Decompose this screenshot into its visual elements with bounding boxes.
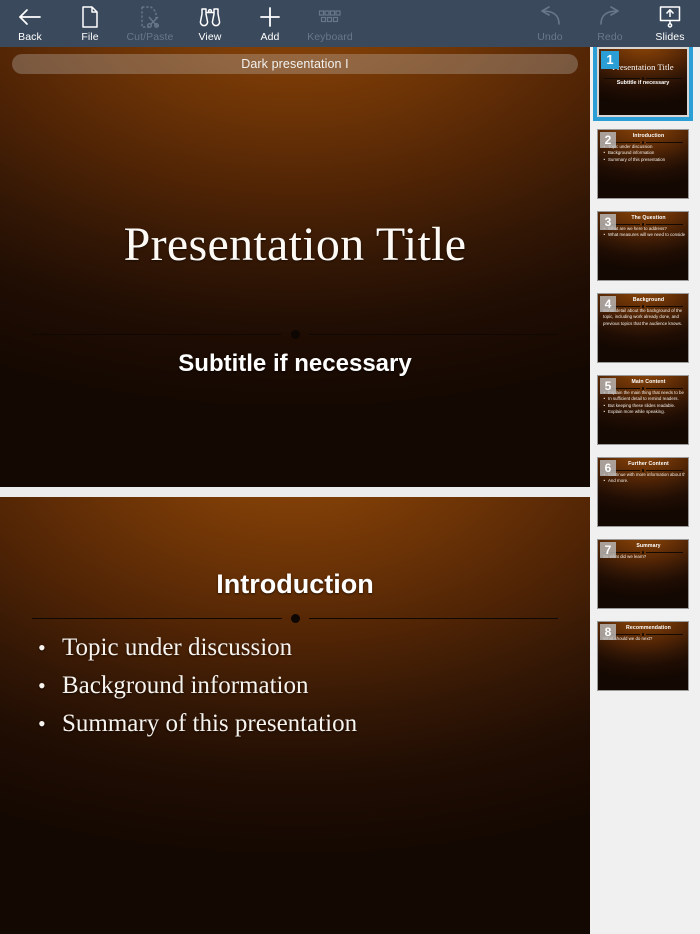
thumbnail-number-badge: 4 (600, 296, 616, 312)
slideshow-icon (657, 4, 683, 30)
divider-line-right (646, 306, 683, 307)
document-icon (80, 4, 100, 30)
undo-button[interactable]: Undo (520, 0, 580, 47)
slide-separator (0, 487, 590, 497)
thumbnail-bullet-item: And more. (603, 478, 685, 484)
document-title-bar[interactable]: Dark presentation I (12, 54, 578, 74)
redo-button-label: Redo (597, 32, 623, 43)
thumbnail-title: Summary (612, 543, 685, 549)
divider-line-right (646, 142, 683, 143)
slide-thumbnail-3[interactable]: The QuestionWhat are we here to address?… (597, 211, 689, 281)
cut-paste-button[interactable]: Cut/Paste (120, 0, 180, 47)
thumbnail-number-badge: 7 (600, 542, 616, 558)
slide-2-bullet-item[interactable]: Topic under discussion (34, 629, 570, 667)
thumbnail-title: Recommendation (612, 625, 685, 631)
slides-button-label: Slides (655, 32, 684, 43)
back-arrow-icon (17, 4, 43, 30)
back-button-label: Back (18, 32, 42, 43)
divider-line-right (646, 78, 682, 79)
thumbnail-title: Background (612, 297, 685, 303)
document-title-text: Dark presentation I (241, 57, 349, 71)
slide-canvas[interactable]: Dark presentation I Presentation Title S… (0, 47, 590, 934)
divider-dot-icon (291, 330, 300, 339)
slide-2-bullet-list[interactable]: Topic under discussionBackground informa… (34, 629, 570, 743)
divider-line-right (309, 334, 559, 335)
slide-thumbnail-4[interactable]: BackgroundSome detail about the backgrou… (597, 293, 689, 363)
top-toolbar: Back File Cut/ (0, 0, 700, 47)
thumbnail-subtitle: Subtitle if necessary (605, 80, 681, 86)
thumbnail-number-badge: 3 (600, 214, 616, 230)
keyboard-icon (318, 4, 342, 30)
add-button[interactable]: Add (240, 0, 300, 47)
thumbnail-number-badge: 2 (600, 132, 616, 148)
back-button[interactable]: Back (0, 0, 60, 47)
slide-thumbnail-panel[interactable]: Presentation TitleSubtitle if necessary1… (590, 47, 700, 934)
divider-line-right (309, 618, 559, 619)
divider-line-left (604, 78, 640, 79)
divider-line-right (646, 224, 683, 225)
slide-thumbnail-5[interactable]: Main ContentExplain the main thing that … (597, 375, 689, 445)
view-button-label: View (199, 32, 222, 43)
cut-paste-button-label: Cut/Paste (126, 32, 173, 43)
thumbnail-number-badge: 8 (600, 624, 616, 640)
thumbnail-title: Further Content (612, 461, 685, 467)
slide-1-subtitle[interactable]: Subtitle if necessary (0, 350, 590, 378)
thumbnail-number-badge: 1 (601, 51, 619, 69)
toolbar-spacer (360, 0, 520, 47)
thumbnail-bullet-item: Summary of this presentation (603, 157, 685, 163)
undo-arrow-icon (537, 4, 563, 30)
slides-button[interactable]: Slides (640, 0, 700, 47)
file-button[interactable]: File (60, 0, 120, 47)
slide-2-bullet-item[interactable]: Summary of this presentation (34, 705, 570, 743)
slide-1-title[interactable]: Presentation Title (0, 217, 590, 272)
slide-2-title[interactable]: Introduction (0, 569, 590, 600)
presentation-editor-app: Back File Cut/ (0, 0, 700, 934)
keyboard-button-label: Keyboard (307, 32, 353, 43)
divider-dot-icon (291, 614, 300, 623)
undo-button-label: Undo (537, 32, 563, 43)
redo-arrow-icon (597, 4, 623, 30)
slide-2-divider (32, 612, 558, 624)
thumbnail-title: The Question (612, 215, 685, 221)
divider-line-right (646, 388, 683, 389)
slide-thumbnail-7[interactable]: SummarySo what did we learn?7 (597, 539, 689, 609)
thumbnail-bullet-item: Explain more while speaking. (603, 409, 685, 415)
plus-icon (258, 4, 282, 30)
thumbnail-bullet-item: What measures will we need to consider t… (603, 232, 685, 238)
slide-thumbnail-6[interactable]: Further ContentContinue with more inform… (597, 457, 689, 527)
slide-thumbnail-8[interactable]: RecommendationWhat should we do next?8 (597, 621, 689, 691)
cut-paste-icon (139, 4, 161, 30)
slide-1-editable[interactable]: Dark presentation I Presentation Title S… (0, 47, 590, 487)
divider-line-right (646, 634, 683, 635)
thumbnail-number-badge: 5 (600, 378, 616, 394)
divider-line-right (646, 552, 683, 553)
slide-thumbnail-2[interactable]: IntroductionTopic under discussionBackgr… (597, 129, 689, 199)
divider-line-right (646, 470, 683, 471)
view-button[interactable]: View (180, 0, 240, 47)
thumbnail-title: Introduction (612, 133, 685, 139)
thumbnail-title: Main Content (612, 379, 685, 385)
slide-2-editable[interactable]: Introduction Topic under discussionBackg… (0, 497, 590, 934)
binoculars-icon (197, 4, 223, 30)
file-button-label: File (81, 32, 98, 43)
divider-line-left (32, 334, 282, 335)
keyboard-button[interactable]: Keyboard (300, 0, 360, 47)
redo-button[interactable]: Redo (580, 0, 640, 47)
slide-2-bullet-item[interactable]: Background information (34, 667, 570, 705)
add-button-label: Add (261, 32, 280, 43)
slide-thumbnail-1[interactable]: Presentation TitleSubtitle if necessary1 (593, 47, 693, 121)
divider-line-left (32, 618, 282, 619)
slide-1-divider (32, 328, 558, 340)
thumbnail-number-badge: 6 (600, 460, 616, 476)
